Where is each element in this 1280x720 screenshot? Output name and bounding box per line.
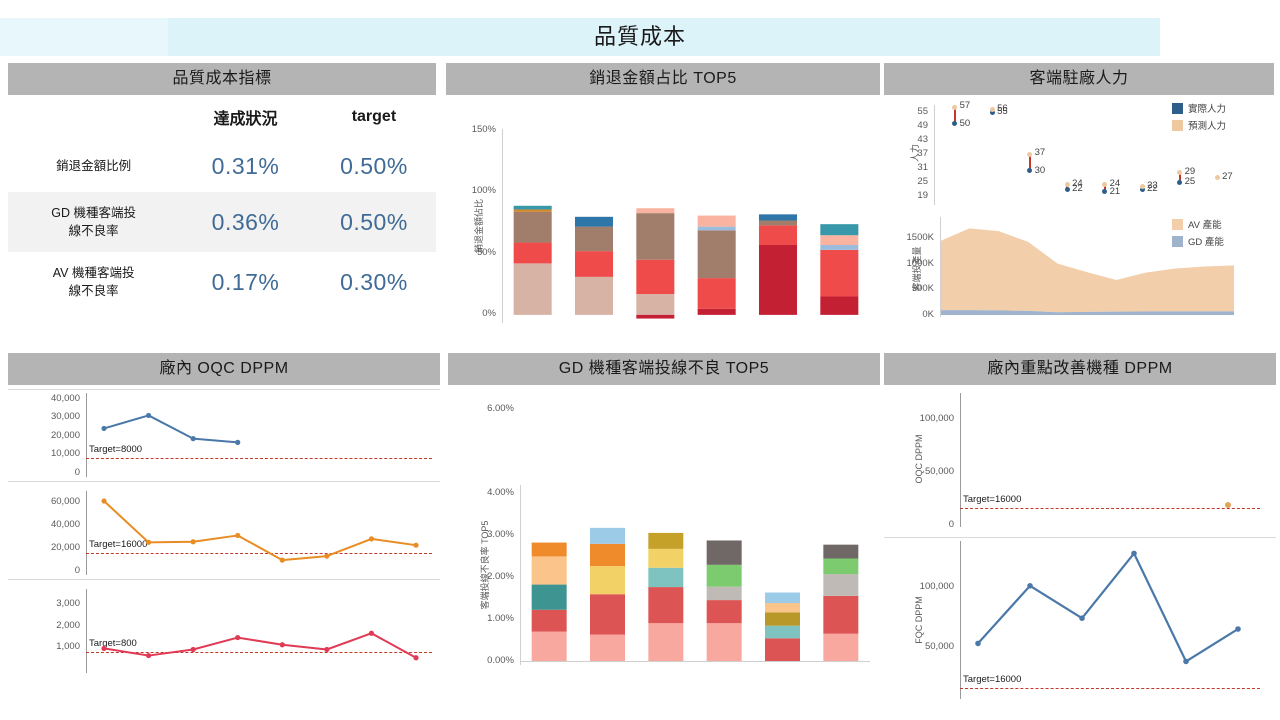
- gd-bars: [448, 385, 880, 685]
- bar-segment: [820, 250, 858, 297]
- bar-segment: [514, 206, 552, 210]
- bar-segment: [514, 263, 552, 314]
- bar-segment: [759, 220, 797, 225]
- pane-separator: [8, 389, 440, 390]
- legend-item: AV 產能: [1172, 217, 1224, 231]
- legend-swatch: [1172, 236, 1183, 247]
- bar-segment: [765, 638, 800, 661]
- sales-bars: [446, 95, 880, 345]
- bar-segment: [707, 565, 742, 587]
- kpi-row-actual: 0.17%: [179, 252, 312, 312]
- bar-segment: [820, 224, 858, 235]
- bar-segment: [820, 235, 858, 245]
- panel-inplant-oqc-dppm: 廠內 OQC DPPM 010,00020,00030,00040,000Tar…: [8, 353, 440, 683]
- table-row: AV 機種客端投線不良率 0.17% 0.30%: [8, 252, 436, 312]
- data-point: [1079, 615, 1085, 621]
- table-row: 銷退金額比例 0.31% 0.50%: [8, 141, 436, 192]
- kpi-table: 達成狀況 target 銷退金額比例 0.31% 0.50% GD 機種客端投線…: [8, 95, 436, 313]
- panel-sales-return-top5: 銷退金額占比 TOP5 0%50%100%150%銷退金額佔比: [446, 63, 880, 343]
- bar-segment: [636, 294, 674, 315]
- bar-segment: [636, 260, 674, 294]
- bar-segment: [532, 585, 567, 610]
- data-point: [1183, 659, 1189, 665]
- page-title: 品質成本: [0, 18, 1280, 56]
- bar-segment: [823, 559, 858, 575]
- panel-title-oqc: 廠內 OQC DPPM: [8, 353, 440, 385]
- bar-segment: [590, 566, 625, 594]
- capacity-legend: AV 產能GD 產能: [1172, 217, 1224, 251]
- bar-segment: [820, 245, 858, 250]
- bar-segment: [765, 603, 800, 612]
- bar-segment: [648, 568, 683, 587]
- kpi-header-row: 達成狀況 target: [8, 95, 436, 141]
- panel-quality-cost-kpi: 品質成本指標 達成狀況 target 銷退金額比例 0.31% 0.50%: [8, 63, 436, 343]
- bar-segment: [698, 278, 736, 309]
- panel-gd-customer-line-defect-top5: GD 機種客端投線不良 TOP5 0.00%1.00%2.00%3.00%4.0…: [448, 353, 880, 683]
- kpi-table-body: 達成狀況 target 銷退金額比例 0.31% 0.50% GD 機種客端投線…: [8, 95, 436, 313]
- data-point: [146, 653, 151, 658]
- bar-segment: [532, 556, 567, 584]
- kpi-row-target: 0.30%: [312, 252, 436, 312]
- kpi-row-actual: 0.36%: [179, 192, 312, 252]
- panel-title-gd: GD 機種客端投線不良 TOP5: [448, 353, 880, 385]
- bar-segment: [765, 612, 800, 625]
- data-point: [369, 631, 374, 636]
- kpi-row-label: GD 機種客端投線不良率: [8, 192, 179, 252]
- bar-segment: [575, 227, 613, 252]
- bar-segment: [698, 309, 736, 315]
- bar-segment: [532, 543, 567, 557]
- bar-segment: [575, 251, 613, 277]
- legend-item: GD 產能: [1172, 234, 1224, 248]
- bar-segment: [590, 594, 625, 634]
- bar-segment: [532, 610, 567, 632]
- bar-segment: [820, 296, 858, 314]
- legend-label: GD 產能: [1188, 234, 1224, 248]
- bar-segment: [590, 635, 625, 661]
- axis-line: [940, 217, 941, 317]
- data-point: [975, 641, 981, 647]
- data-point: [1027, 583, 1033, 589]
- bar-segment: [707, 623, 742, 661]
- data-point: [324, 647, 329, 652]
- kpi-row-label: AV 機種客端投線不良率: [8, 252, 179, 312]
- panel-title-focus: 廠內重點改善機種 DPPM: [884, 353, 1276, 385]
- bar-segment: [759, 225, 797, 245]
- data-point: [1131, 551, 1137, 557]
- oqc-chart-c: [8, 385, 440, 685]
- kpi-header-target: target: [312, 95, 436, 141]
- bar-segment: [759, 245, 797, 315]
- data-point: [101, 646, 106, 651]
- kpi-row-actual: 0.31%: [179, 141, 312, 192]
- bar-segment: [636, 213, 674, 260]
- bar-segment: [759, 214, 797, 220]
- bar-segment: [707, 600, 742, 623]
- panel-title-sales: 銷退金額占比 TOP5: [446, 63, 880, 95]
- bar-segment: [698, 216, 736, 227]
- kpi-header-actual: 達成狀況: [179, 95, 312, 141]
- data-point: [1235, 626, 1241, 632]
- bar-segment: [823, 545, 858, 559]
- bar-segment: [823, 596, 858, 634]
- bar-segment: [514, 209, 552, 211]
- bar-segment: [590, 528, 625, 544]
- bar-segment: [575, 217, 613, 227]
- panel-title-kpi: 品質成本指標: [8, 63, 436, 95]
- bar-segment: [648, 623, 683, 661]
- legend-swatch: [1172, 219, 1183, 230]
- bar-segment: [648, 587, 683, 623]
- kpi-header-blank: [8, 95, 179, 141]
- panel-focus-improvement-dppm: 廠內重點改善機種 DPPM 050,000100,000OQC DPPMTarg…: [884, 353, 1276, 683]
- bar-segment: [698, 227, 736, 231]
- kpi-row-target: 0.50%: [312, 192, 436, 252]
- data-point: [280, 642, 285, 647]
- bar-segment: [648, 533, 683, 549]
- bar-segment: [823, 634, 858, 661]
- bar-segment: [648, 549, 683, 568]
- bar-segment: [636, 208, 674, 213]
- kpi-row-target: 0.50%: [312, 141, 436, 192]
- bar-segment: [636, 315, 674, 319]
- legend-label: AV 產能: [1188, 217, 1222, 231]
- data-point: [235, 635, 240, 640]
- bar-segment: [698, 230, 736, 278]
- bar-segment: [707, 587, 742, 600]
- bar-segment: [590, 544, 625, 566]
- bar-segment: [514, 243, 552, 264]
- panel-title-manpower: 客端駐廠人力: [884, 63, 1274, 95]
- fqc-line-chart: [884, 385, 1276, 715]
- panel-customer-onsite-manpower: 客端駐廠人力 19253137434955人力50575556303722242…: [884, 63, 1274, 343]
- bar-segment: [823, 574, 858, 596]
- bar-segment: [707, 540, 742, 564]
- data-point: [191, 647, 196, 652]
- kpi-row-label: 銷退金額比例: [8, 141, 179, 192]
- data-point: [413, 655, 418, 660]
- bar-segment: [575, 277, 613, 315]
- bar-segment: [765, 593, 800, 604]
- bar-segment: [765, 626, 800, 639]
- bar-segment: [514, 212, 552, 243]
- bar-segment: [532, 632, 567, 661]
- table-row: GD 機種客端投線不良率 0.36% 0.50%: [8, 192, 436, 252]
